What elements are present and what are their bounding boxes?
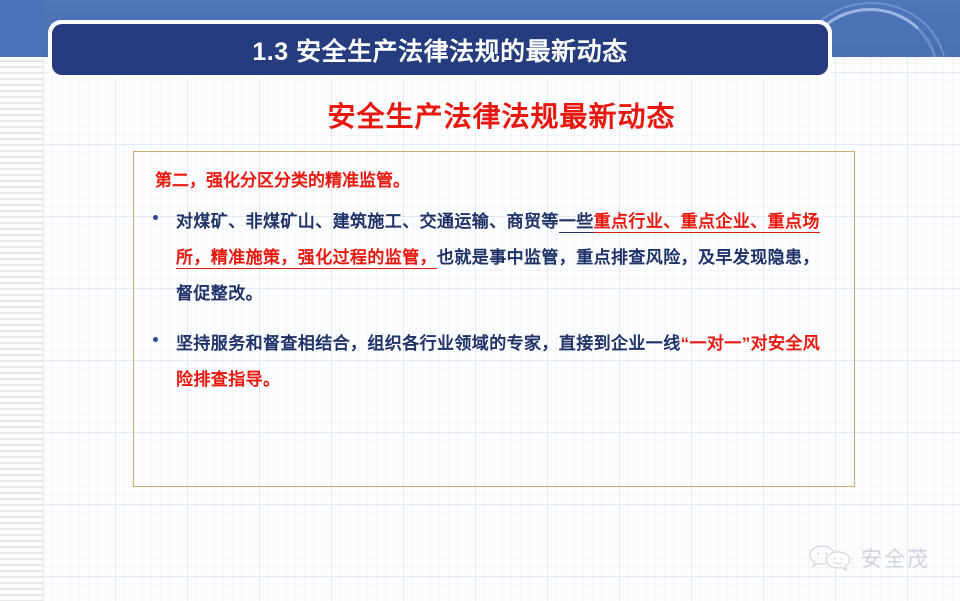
list-item: 对煤矿、非煤矿山、建筑施工、交通运输、商贸等一些重点行业、重点企业、重点场所，精… <box>146 204 836 312</box>
bullet-segment-underlined: 一些 <box>559 212 594 233</box>
list-item: 坚持服务和督查相结合，组织各行业领域的专家，直接到企业一线“一对一”对安全风险排… <box>146 326 836 398</box>
content-panel: 第二，强化分区分类的精准监管。 对煤矿、非煤矿山、建筑施工、交通运输、商贸等一些… <box>133 151 855 487</box>
wechat-bubbles-icon <box>808 543 852 573</box>
slide-canvas: 1.3 安全生产法律法规的最新动态 安全生产法律法规最新动态 第二，强化分区分类… <box>0 0 960 601</box>
top-left-blue-block <box>0 0 43 57</box>
bullet-segment: 坚持服务和督查相结合，组织各行业领域的专家，直接到企业一线 <box>176 334 681 353</box>
footer-watermark: 安全茂 <box>808 543 930 573</box>
footer-brand-label: 安全茂 <box>861 543 930 573</box>
section-headline: 安全生产法律法规最新动态 <box>43 95 960 135</box>
left-stripe-decoration <box>0 0 43 601</box>
bullet-marker-icon <box>146 204 176 220</box>
bullet-text: 坚持服务和督查相结合，组织各行业领域的专家，直接到企业一线“一对一”对安全风险排… <box>176 326 836 398</box>
page-title: 1.3 安全生产法律法规的最新动态 <box>252 32 627 68</box>
bullet-segment: 对煤矿、非煤矿山、建筑施工、交通运输、商贸等 <box>176 212 559 231</box>
slide-title-bar-inner: 1.3 安全生产法律法规的最新动态 <box>52 24 828 75</box>
bullet-text: 对煤矿、非煤矿山、建筑施工、交通运输、商贸等一些重点行业、重点企业、重点场所，精… <box>176 204 836 312</box>
bullet-marker-icon <box>146 326 176 342</box>
intro-statement: 第二，强化分区分类的精准监管。 <box>155 168 836 194</box>
slide-title-bar: 1.3 安全生产法律法规的最新动态 <box>48 20 832 79</box>
